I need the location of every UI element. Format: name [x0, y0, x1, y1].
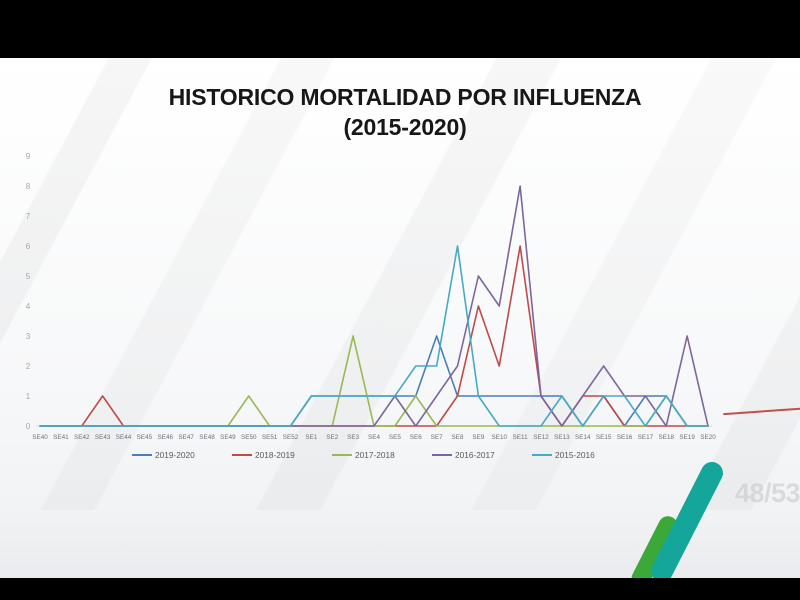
x-axis-tick-label: SE41	[53, 434, 69, 441]
series-line-2016-2017	[40, 186, 708, 426]
y-axis-tick-label: 9	[26, 152, 31, 161]
x-axis-tick-label: SE52	[283, 434, 299, 441]
y-axis-tick-label: 3	[26, 332, 31, 341]
x-axis-tick-label: SE47	[178, 434, 194, 441]
x-axis-tick-label: SE20	[700, 434, 716, 441]
x-axis-tick-label: SE50	[241, 434, 257, 441]
y-axis-tick-label: 6	[26, 242, 31, 251]
y-axis-tick-label: 0	[26, 422, 31, 431]
x-axis-tick-label: SE13	[554, 434, 570, 441]
x-axis-tick-label: SE51	[262, 434, 278, 441]
x-axis-tick-label: SE2	[326, 434, 338, 441]
x-axis-tick-label: SE5	[389, 434, 401, 441]
x-axis-tick-label: SE12	[533, 434, 549, 441]
x-axis-tick-label: SE7	[431, 434, 443, 441]
x-axis-tick-label: SE48	[199, 434, 215, 441]
series-line-2019-2020	[40, 336, 708, 426]
x-axis-tick-label: SE6	[410, 434, 422, 441]
x-axis-tick-label: SE42	[74, 434, 90, 441]
x-axis-tick-label: SE3	[347, 434, 359, 441]
y-axis-tick-label: 4	[26, 302, 31, 311]
x-axis-tick-label: SE1	[305, 434, 317, 441]
x-axis-tick-label: SE19	[679, 434, 695, 441]
x-axis-tick-label: SE17	[638, 434, 654, 441]
slide-viewer: HISTORICO MORTALIDAD POR INFLUENZA (2015…	[0, 0, 800, 600]
x-axis-tick-label: SE45	[137, 434, 153, 441]
series-line-2018-2019	[40, 246, 708, 426]
y-axis-tick-label: 1	[26, 392, 31, 401]
x-axis-tick-label: SE9	[472, 434, 484, 441]
letterbox-top	[0, 0, 800, 58]
x-axis-tick-label: SE40	[32, 434, 48, 441]
y-axis-tick-label: 5	[26, 272, 31, 281]
x-axis-tick-label: SE11	[513, 434, 528, 441]
legend-label-2017-2018[interactable]: 2017-2018	[355, 450, 395, 460]
x-axis-tick-label: SE16	[617, 434, 633, 441]
y-axis-tick-label: 7	[26, 212, 31, 221]
x-axis-tick-label: SE43	[95, 434, 111, 441]
letterbox-bottom	[0, 578, 800, 600]
chart-svg: 0123456789SE40SE41SE42SE43SE44SE45SE46SE…	[0, 58, 800, 578]
x-axis-tick-label: SE49	[220, 434, 236, 441]
series-line-2015-2016	[40, 246, 708, 426]
x-axis-tick-label: SE15	[596, 434, 612, 441]
x-axis-tick-label: SE18	[659, 434, 675, 441]
x-axis-tick-label: SE10	[492, 434, 508, 441]
series-line-2017-2018	[40, 336, 708, 426]
presentation-slide: HISTORICO MORTALIDAD POR INFLUENZA (2015…	[0, 58, 800, 578]
legend-label-2016-2017[interactable]: 2016-2017	[455, 450, 495, 460]
x-axis-tick-label: SE4	[368, 434, 380, 441]
x-axis-tick-label: SE46	[158, 434, 174, 441]
legend-label-2018-2019[interactable]: 2018-2019	[255, 450, 295, 460]
legend-label-2015-2016[interactable]: 2015-2016	[555, 450, 595, 460]
influenza-mortality-chart: 0123456789SE40SE41SE42SE43SE44SE45SE46SE…	[0, 58, 800, 578]
x-axis-tick-label: SE44	[116, 434, 132, 441]
y-axis-tick-label: 8	[26, 182, 31, 191]
x-axis-tick-label: SE14	[575, 434, 591, 441]
legend-label-2019-2020[interactable]: 2019-2020	[155, 450, 195, 460]
y-axis-tick-label: 2	[26, 362, 31, 371]
x-axis-tick-label: SE8	[452, 434, 464, 441]
